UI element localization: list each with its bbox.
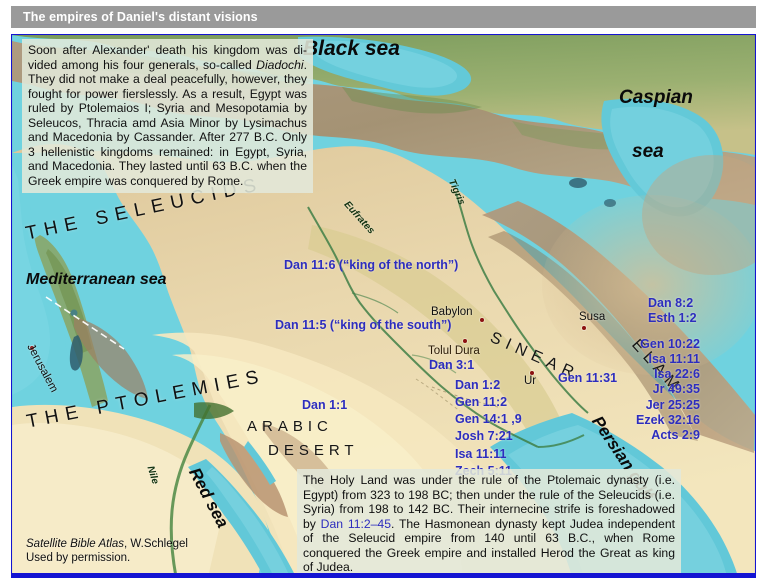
label-caspian-sea-line2: sea xyxy=(632,142,664,162)
map-container[interactable]: Black sea Caspian sea Mediterranean sea … xyxy=(11,34,756,578)
window-title-bar: The empires of Daniel's distant visions xyxy=(11,6,756,28)
reference-item[interactable]: Esth 1:2 xyxy=(648,312,697,325)
city-dot-tolul-dura xyxy=(463,339,467,343)
reference-item[interactable]: Gen 11:2 xyxy=(455,396,522,409)
reference-item[interactable]: Josh 7:21 xyxy=(455,430,522,443)
reference-item[interactable]: Isa 11:11 xyxy=(455,448,522,461)
reference-item[interactable]: Gen 10:22 xyxy=(636,338,700,351)
frame-bottom-strip xyxy=(12,573,755,577)
label-caspian-sea-line1: Caspian xyxy=(619,88,693,108)
reference-list-susa: Dan 8:2 Esth 1:2 xyxy=(648,297,697,325)
info-top-part2: . They did not make a deal peacefully, h… xyxy=(28,58,307,188)
city-dot-babylon xyxy=(480,318,484,322)
label-black-sea: Black sea xyxy=(303,38,400,60)
reference-item[interactable]: Dan 1:2 xyxy=(455,379,522,392)
reference-item[interactable]: Gen 14:1 ,9 xyxy=(455,413,522,426)
credit-atlas-title: Satellite Bible Atlas xyxy=(26,538,124,550)
info-box-top-text: Soon after Alexander' death his kingdom … xyxy=(28,43,307,188)
label-mediterranean-sea: Mediterranean sea xyxy=(26,272,167,289)
reference-item[interactable]: Jr 49:35 xyxy=(636,383,700,396)
label-region-arabic-desert-line2: DESERT xyxy=(268,443,359,459)
annotation-dan-1-1[interactable]: Dan 1:1 xyxy=(302,399,347,412)
reference-list-elam: Gen 10:22 Isa 11:11 Isa 22:6 Jr 49:35 Je… xyxy=(692,338,700,442)
reference-item[interactable]: Acts 2:9 xyxy=(636,429,700,442)
city-dot-susa xyxy=(582,326,586,330)
credit-author: , W.Schlegel xyxy=(124,538,188,550)
annotation-gen-11-31[interactable]: Gen 11:31 xyxy=(558,372,617,385)
info-box-bottom: The Holy Land was under the rule of the … xyxy=(297,469,681,578)
info-box-bottom-text: The Holy Land was under the rule of the … xyxy=(303,473,675,575)
reference-item[interactable]: Ezek 32:16 xyxy=(636,414,700,427)
label-city-babylon: Babylon xyxy=(431,306,473,318)
credit-line1: Satellite Bible Atlas, W.Schlegel xyxy=(26,537,188,551)
annotation-dan-3-1[interactable]: Dan 3:1 xyxy=(429,359,474,372)
reference-item[interactable]: Isa 11:11 xyxy=(636,353,700,366)
info-top-italic: Diadochi xyxy=(256,58,303,72)
label-city-susa: Susa xyxy=(579,311,605,323)
reference-item[interactable]: Jer 25:25 xyxy=(636,399,700,412)
credit-line2: Used by permission. xyxy=(26,551,188,565)
label-city-ur: Ur xyxy=(524,375,536,387)
annotation-dan-11-6[interactable]: Dan 11:6 (“king of the north”) xyxy=(284,259,458,272)
reference-item[interactable]: Isa 22:6 xyxy=(636,368,700,381)
reference-list-center: Dan 1:2 Gen 11:2 Gen 14:1 ,9 Josh 7:21 I… xyxy=(455,379,522,478)
map-credit: Satellite Bible Atlas, W.Schlegel Used b… xyxy=(26,537,188,566)
annotation-dan-11-5[interactable]: Dan 11:5 (“king of the south”) xyxy=(275,319,451,332)
info-bottom-reference[interactable]: Dan 11:2–45 xyxy=(321,517,391,531)
page-title: The empires of Daniel's distant visions xyxy=(23,10,258,24)
label-region-arabic-desert-line1: ARABIC xyxy=(247,419,333,435)
label-site-tolul-dura: Tolul Dura xyxy=(428,345,480,357)
reference-item[interactable]: Dan 8:2 xyxy=(648,297,697,310)
info-box-top: Soon after Alexander' death his kingdom … xyxy=(22,39,313,193)
